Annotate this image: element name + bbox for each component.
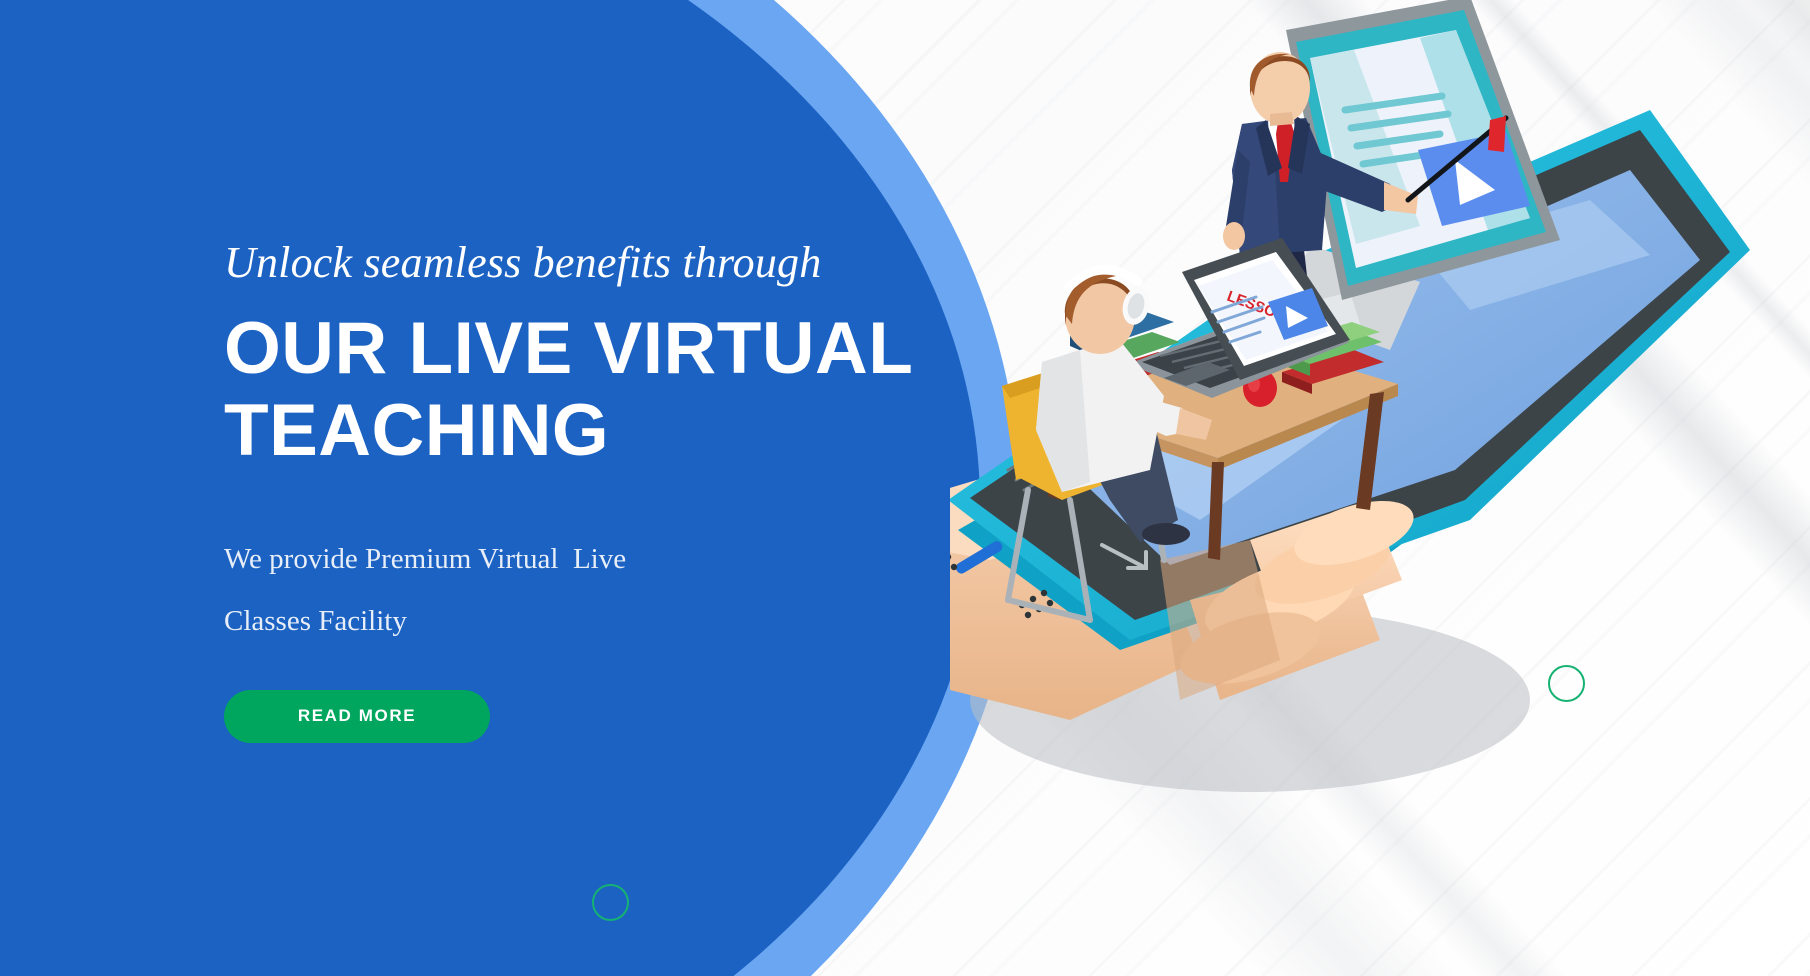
hero-content: Unlock seamless benefits through OUR LIV… (224, 236, 924, 743)
virtual-classroom-illustration: LESSON 1 (950, 0, 1810, 976)
pointer-flag-red (1488, 116, 1506, 152)
student-shoe (1142, 523, 1190, 545)
decorative-circle-icon (1548, 665, 1585, 702)
page-title: OUR LIVE VIRTUAL TEACHING (224, 308, 924, 472)
hero-banner: LESSON 1 (0, 0, 1810, 976)
hero-subtitle: We provide Premium Virtual Live Classes … (224, 528, 924, 652)
decorative-circle-icon (592, 884, 629, 921)
hero-tagline: Unlock seamless benefits through (224, 236, 924, 290)
read-more-button[interactable]: READ MORE (224, 690, 490, 743)
